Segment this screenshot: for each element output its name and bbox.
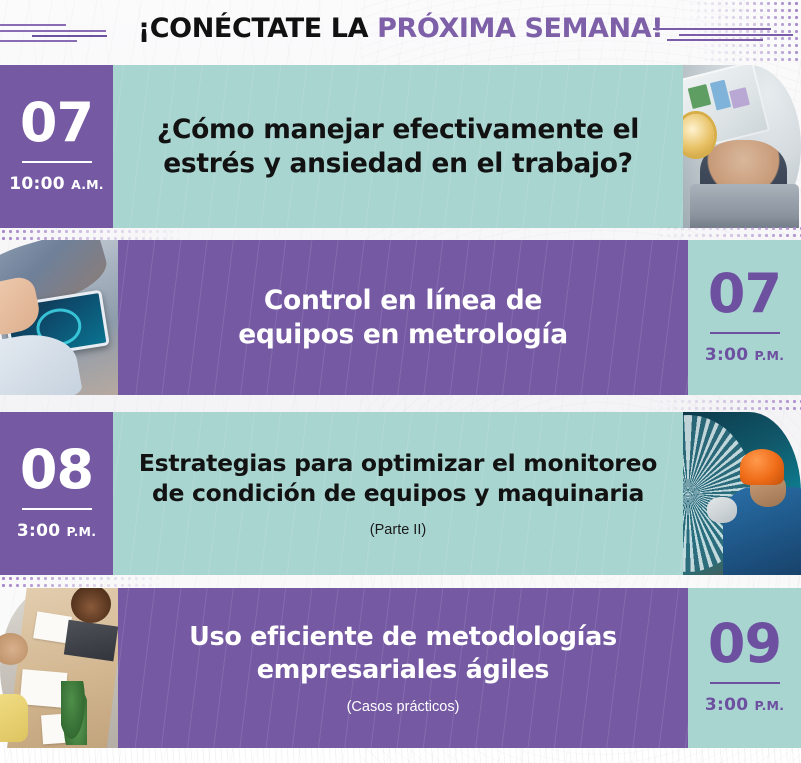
event-day: 09 bbox=[708, 617, 781, 671]
event-title: Uso eficiente de metodologías empresaria… bbox=[189, 621, 617, 685]
event-card-list: 07 10:00 A.M. ¿Cómo manejar efectivament… bbox=[0, 0, 801, 763]
event-time: 3:00 P.M. bbox=[705, 345, 784, 365]
event-card[interactable]: 07 10:00 A.M. ¿Cómo manejar efectivament… bbox=[0, 65, 801, 228]
work-glove-icon bbox=[707, 497, 738, 523]
event-time-meridiem: A.M. bbox=[71, 177, 104, 192]
person-icon bbox=[0, 694, 28, 742]
date-separator bbox=[22, 508, 92, 510]
event-title-line: equipos en metrología bbox=[238, 318, 568, 351]
event-time: 3:00 P.M. bbox=[17, 521, 96, 541]
event-photo bbox=[0, 588, 118, 748]
event-subtitle: (Casos prácticos) bbox=[347, 699, 460, 715]
event-day: 07 bbox=[708, 267, 781, 321]
event-subtitle: (Parte II) bbox=[370, 522, 426, 538]
page-title: ¡CONÉCTATE LA PRÓXIMA SEMANA! bbox=[0, 13, 801, 44]
webinar-schedule-poster: ¡CONÉCTATE LA PRÓXIMA SEMANA! 07 10:00 A… bbox=[0, 0, 801, 763]
page-title-plain: ¡CONÉCTATE LA bbox=[138, 13, 377, 44]
event-day: 08 bbox=[20, 443, 93, 497]
event-title-line: Estrategias para optimizar el monitoreo bbox=[139, 449, 657, 479]
event-title-line: estrés y ansiedad en el trabajo? bbox=[157, 147, 639, 180]
event-photo bbox=[683, 412, 801, 575]
event-title: Control en línea de equipos en metrologí… bbox=[238, 284, 568, 351]
event-title-line: Control en línea de bbox=[238, 284, 568, 317]
date-separator bbox=[710, 332, 780, 334]
stressed-businessman-photo bbox=[683, 65, 801, 228]
event-date-block: 07 10:00 A.M. bbox=[0, 65, 113, 228]
event-body: Control en línea de equipos en metrologí… bbox=[118, 240, 688, 395]
alarm-clock-icon bbox=[683, 114, 714, 156]
industrial-worker-turbine-photo bbox=[683, 412, 801, 575]
event-body: Estrategias para optimizar el monitoreo … bbox=[113, 412, 683, 575]
event-date-block: 09 3:00 P.M. bbox=[688, 588, 801, 748]
event-body: Uso eficiente de metodologías empresaria… bbox=[118, 588, 688, 748]
date-separator bbox=[22, 161, 92, 163]
event-time-value: 10:00 bbox=[9, 174, 65, 194]
chart-bar-green-icon bbox=[688, 84, 711, 109]
tablet-robot-arm-photo bbox=[0, 240, 118, 395]
team-meeting-topdown-photo bbox=[0, 588, 118, 748]
event-date-block: 08 3:00 P.M. bbox=[0, 412, 113, 575]
laptop-icon bbox=[690, 184, 799, 228]
event-title: ¿Cómo manejar efectivamente el estrés y … bbox=[157, 113, 639, 180]
event-time-value: 3:00 bbox=[705, 345, 748, 365]
event-title-line: de condición de equipos y maquinaria bbox=[139, 479, 657, 509]
event-title-line: empresariales ágiles bbox=[189, 654, 617, 686]
laptop-icon bbox=[64, 620, 118, 662]
event-title: Estrategias para optimizar el monitoreo … bbox=[139, 449, 657, 508]
page-title-accent: PRÓXIMA SEMANA! bbox=[377, 13, 663, 44]
event-time-meridiem: P.M. bbox=[67, 524, 97, 539]
poster-header: ¡CONÉCTATE LA PRÓXIMA SEMANA! bbox=[0, 0, 801, 62]
event-card[interactable]: Uso eficiente de metodologías empresaria… bbox=[0, 588, 801, 748]
date-separator bbox=[710, 682, 780, 684]
event-time-meridiem: P.M. bbox=[755, 348, 785, 363]
chart-bar-blue-icon bbox=[709, 80, 731, 111]
event-card[interactable]: Control en línea de equipos en metrologí… bbox=[0, 240, 801, 395]
event-time-value: 3:00 bbox=[17, 521, 60, 541]
event-card[interactable]: 08 3:00 P.M. Estrategias para optimizar … bbox=[0, 412, 801, 575]
event-time: 10:00 A.M. bbox=[9, 174, 104, 194]
event-time-value: 3:00 bbox=[705, 695, 748, 715]
event-photo bbox=[0, 240, 118, 395]
event-title-line: ¿Cómo manejar efectivamente el bbox=[157, 113, 639, 146]
event-title-line: Uso eficiente de metodologías bbox=[189, 621, 617, 653]
event-day: 07 bbox=[20, 96, 93, 150]
plant-icon bbox=[61, 681, 87, 745]
event-date-block: 07 3:00 P.M. bbox=[688, 240, 801, 395]
safety-helmet-icon bbox=[740, 449, 785, 485]
event-body: ¿Cómo manejar efectivamente el estrés y … bbox=[113, 65, 683, 228]
event-time-meridiem: P.M. bbox=[755, 698, 785, 713]
event-time: 3:00 P.M. bbox=[705, 695, 784, 715]
chart-bar-purple-icon bbox=[729, 88, 749, 109]
event-photo bbox=[683, 65, 801, 228]
